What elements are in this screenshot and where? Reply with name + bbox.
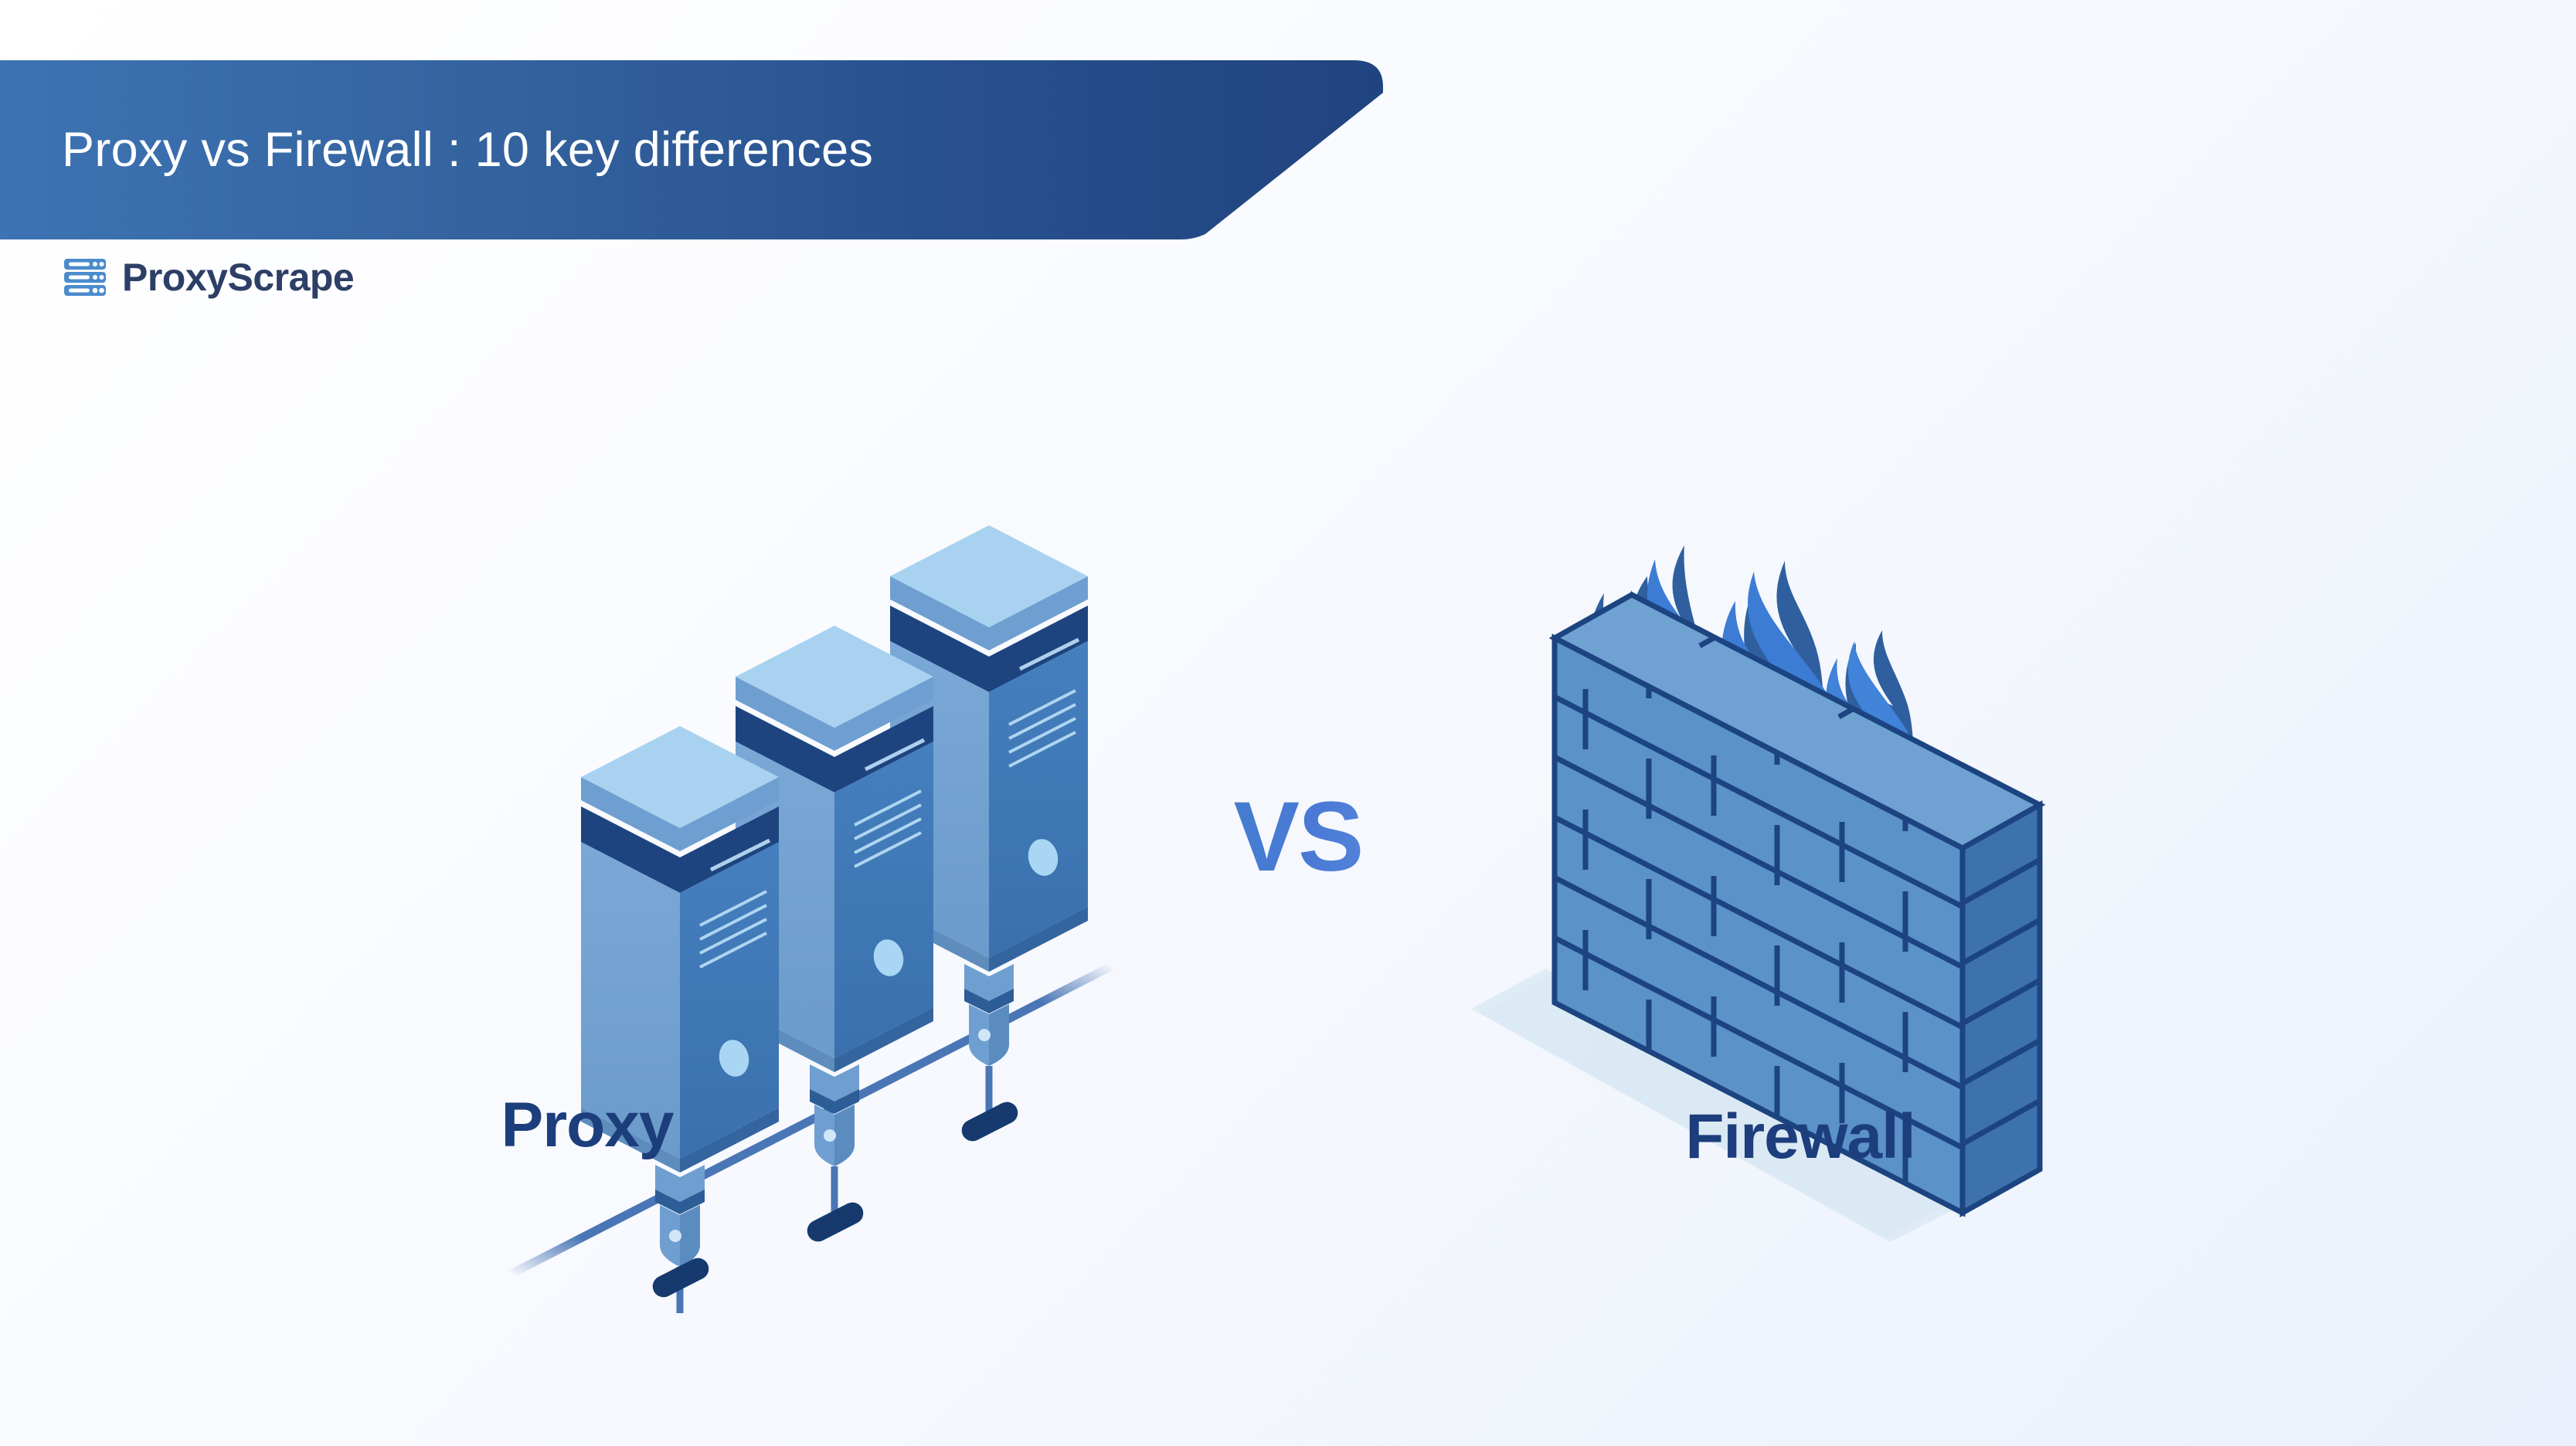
brand-name-part2: Scrape bbox=[227, 256, 354, 299]
versus-label: VS bbox=[1174, 788, 1422, 887]
firewall-illustration bbox=[1453, 494, 2148, 1313]
page-title: Proxy vs Firewall : 10 key differences bbox=[62, 60, 873, 239]
brick-wall-flames-art bbox=[1453, 494, 2148, 1313]
server-rack-icon bbox=[63, 256, 107, 299]
infographic-canvas: Proxy vs Firewall : 10 key differences P… bbox=[0, 0, 2576, 1446]
proxy-illustration bbox=[479, 494, 1174, 1313]
firewall-caption: Firewall bbox=[1453, 1101, 2148, 1173]
brand-name-part1: Proxy bbox=[122, 256, 227, 299]
title-banner: Proxy vs Firewall : 10 key differences bbox=[0, 60, 1383, 239]
brand-name: ProxyScrape bbox=[122, 255, 354, 300]
proxy-caption: Proxy bbox=[0, 1089, 1174, 1162]
server-towers-art bbox=[479, 494, 1174, 1313]
brand-logo[interactable]: ProxyScrape bbox=[63, 255, 354, 300]
